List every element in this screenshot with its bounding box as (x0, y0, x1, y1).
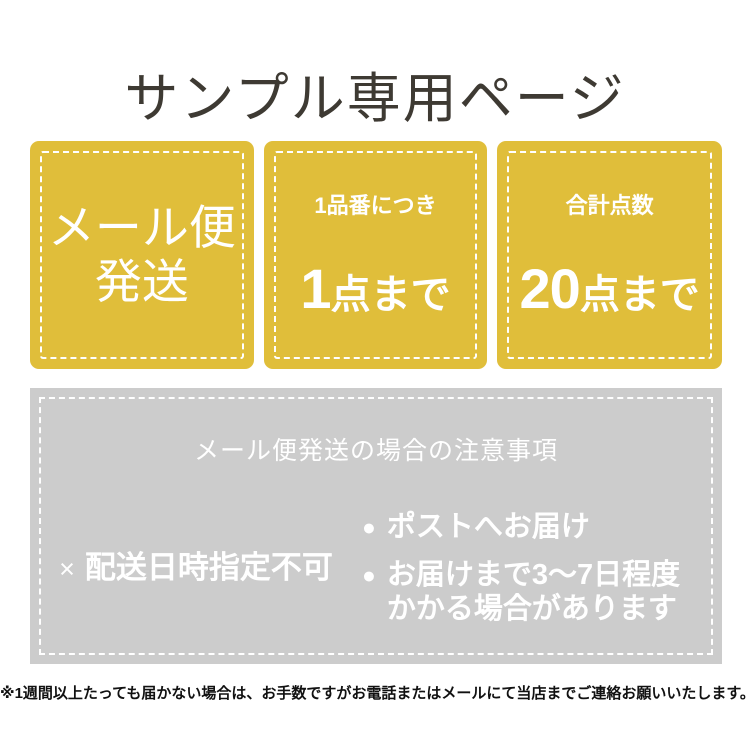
notice-restriction: ×配送日時指定不可 (30, 549, 362, 588)
list-item: ● お届けまで3〜7日程度 かかる場合があります (362, 558, 722, 626)
no-date-designation: ×配送日時指定不可 (59, 549, 333, 588)
cross-icon: × (59, 554, 75, 584)
card-per-item-limit: 1品番につき 1点まで (264, 141, 488, 369)
card-total-limit-value: 20点まで (497, 261, 722, 317)
notice-heading: メール便発送の場合の注意事項 (30, 436, 722, 466)
bullet-text-line1: お届けまで3〜7日程度 (387, 559, 680, 591)
card-mail-shipping-content: メール便 発送 (30, 201, 254, 309)
card-total-limit: 合計点数 20点まで (497, 141, 722, 369)
notice-body: ×配送日時指定不可 ● ポストへお届け ● お届けまで3〜7日程度 かかる場合が… (30, 488, 722, 648)
bullet-text: お届けまで3〜7日程度 かかる場合があります (387, 558, 680, 626)
card-mail-shipping-line2: 発送 (30, 255, 254, 309)
card-mail-shipping-line1: メール便 (30, 201, 254, 255)
bullet-text-line2: かかる場合があります (387, 592, 680, 626)
footer-note: ※1週間以上たっても届かない場合は、お手数ですがお電話またはメールにて当店までご… (0, 684, 750, 704)
no-date-designation-label: 配送日時指定不可 (85, 550, 333, 585)
card-total-limit-label: 合計点数 (497, 193, 722, 219)
bullet-dot-icon: ● (362, 558, 376, 592)
card-per-item-limit-label: 1品番につき (264, 193, 488, 219)
bullet-text-line1: ポストへお届け (387, 511, 590, 543)
card-per-item-limit-value: 1点まで (264, 261, 488, 317)
card-total-limit-unit: 点まで (580, 273, 700, 317)
card-per-item-limit-number: 1 (300, 257, 330, 320)
bullet-text: ポストへお届け (387, 510, 590, 544)
card-per-item-limit-content: 1品番につき 1点まで (264, 193, 488, 317)
sample-shipping-banner: サンプル専用ページ メール便 発送 1品番につき 1点まで 合計点数 (0, 0, 750, 750)
card-per-item-limit-unit: 点まで (331, 273, 451, 317)
card-total-limit-number: 20 (520, 257, 580, 320)
card-mail-shipping: メール便 発送 (30, 141, 254, 369)
shipping-cards-row: メール便 発送 1品番につき 1点まで 合計点数 20点まで (30, 141, 722, 369)
page-title: サンプル専用ページ (0, 68, 750, 130)
list-item: ● ポストへお届け (362, 510, 722, 544)
bullet-dot-icon: ● (362, 510, 376, 544)
notice-bullet-list: ● ポストへお届け ● お届けまで3〜7日程度 かかる場合があります (362, 510, 722, 626)
notice-panel: メール便発送の場合の注意事項 ×配送日時指定不可 ● ポストへお届け ● (30, 388, 722, 664)
card-total-limit-content: 合計点数 20点まで (497, 193, 722, 317)
